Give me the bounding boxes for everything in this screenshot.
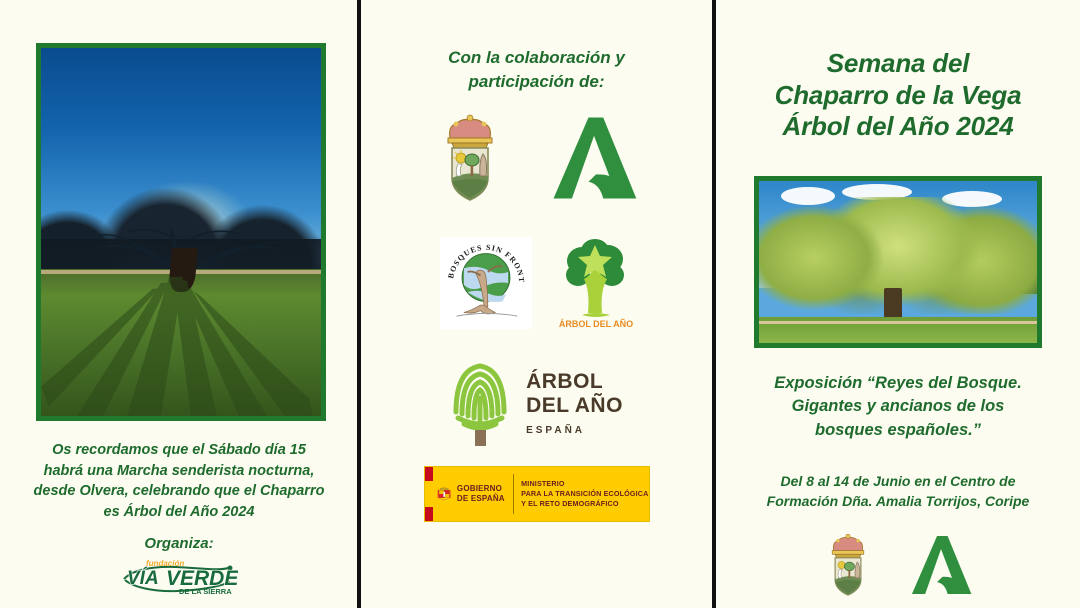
organiza-label: Organiza: <box>22 533 336 554</box>
poster-title-line-1: Semana del <box>730 48 1066 80</box>
left-note-line-4: es Árbol del Año 2024 <box>22 502 336 523</box>
exposition-line-3: bosques españoles.” <box>738 419 1058 442</box>
logo-row-gobierno: GOBIERNO DE ESPAÑA MINISTERIO PARA LA TR… <box>361 466 712 522</box>
dates-venue-text: Del 8 al 14 de Junio en el Centro de For… <box>732 472 1064 512</box>
chaparro-de-la-vega-photo <box>754 176 1042 348</box>
gobierno-text: GOBIERNO DE ESPAÑA <box>457 484 505 504</box>
poster-title: Semana del Chaparro de la Vega Árbol del… <box>730 48 1066 143</box>
arbol-del-ano-espana-logo: ÁRBOL DEL AÑO ESPAÑA <box>450 358 623 448</box>
gobierno-line-2: DE ESPAÑA <box>457 494 505 504</box>
chaparro-night-photo <box>36 43 326 421</box>
svg-text:DE LA SIERRA: DE LA SIERRA <box>179 587 232 596</box>
escudo-coripe-icon <box>822 532 874 598</box>
collaboration-heading: Con la colaboración y participación de: <box>383 46 690 94</box>
collaboration-heading-line-2: participación de: <box>383 70 690 94</box>
ministerio-line-2: PARA LA TRANSICIÓN ECOLÓGICA <box>521 489 648 499</box>
exposition-line-2: Gigantes y ancianos de los <box>738 395 1058 418</box>
left-note-line-2: habrá una Marcha senderista nocturna, <box>22 461 336 482</box>
gobierno-line-1: GOBIERNO <box>457 484 505 494</box>
poster-title-line-2: Chaparro de la Vega <box>730 80 1066 112</box>
arbol-del-ano-sketch-icon: ÁRBOL DEL AÑO <box>558 235 634 331</box>
logo-row-associations: BOSQUES SIN FRONTERAS ÁRBOL DEL AÑO <box>361 235 712 331</box>
svg-text:ÁRBOL DEL AÑO: ÁRBOL DEL AÑO <box>558 319 632 329</box>
exposition-line-1: Exposición “Reyes del Bosque. <box>738 372 1058 395</box>
logo-row-arbol-del-ano: ÁRBOL DEL AÑO ESPAÑA <box>361 358 712 448</box>
photo-shadows <box>41 269 321 416</box>
spain-flag-stripe <box>425 467 433 521</box>
arbol-del-ano-text: ÁRBOL DEL AÑO ESPAÑA <box>526 370 623 436</box>
escudo-coripe-icon <box>434 112 506 204</box>
exposition-text: Exposición “Reyes del Bosque. Gigantes y… <box>738 372 1058 442</box>
ada-line-2: DEL AÑO <box>526 394 623 418</box>
dates-line-1: Del 8 al 14 de Junio en el Centro de <box>732 472 1064 492</box>
via-verde-logo-wrap: fundación VÍA VERDE DE LA SIERRA <box>0 556 357 598</box>
photo-meadow <box>41 269 321 416</box>
junta-andalucia-icon <box>908 532 974 598</box>
ministerio-line-1: MINISTERIO <box>521 479 648 489</box>
fingerprint-tree-icon <box>450 358 512 448</box>
bosques-sin-fronteras-icon: BOSQUES SIN FRONTERAS <box>440 237 532 329</box>
poster-canvas: Os recordamos que el Sábado día 15 habrá… <box>0 0 1080 608</box>
ada-line-1: ÁRBOL <box>526 370 623 394</box>
left-panel: Os recordamos que el Sábado día 15 habrá… <box>0 0 357 608</box>
right-panel: Semana del Chaparro de la Vega Árbol del… <box>716 0 1080 608</box>
collaboration-heading-line-1: Con la colaboración y <box>383 46 690 70</box>
junta-andalucia-icon <box>548 112 640 204</box>
ministerio-line-3: Y EL RETO DEMOGRÁFICO <box>521 499 648 509</box>
ada-line-3: ESPAÑA <box>526 425 623 436</box>
middle-panel: Con la colaboración y participación de: <box>361 0 712 608</box>
dates-line-2: Formación Dña. Amalia Torrijos, Coripe <box>732 492 1064 512</box>
svg-text:VÍA: VÍA <box>127 567 159 589</box>
via-verde-logo: fundación VÍA VERDE DE LA SIERRA <box>120 556 238 598</box>
escudo-espana-icon <box>437 473 451 515</box>
right-panel-logo-row <box>716 532 1080 598</box>
gobierno-espana-banner: GOBIERNO DE ESPAÑA MINISTERIO PARA LA TR… <box>424 466 650 522</box>
right-photo-fence <box>759 321 1037 324</box>
ministerio-text: MINISTERIO PARA LA TRANSICIÓN ECOLÓGICA … <box>521 479 648 510</box>
poster-title-line-3: Árbol del Año 2024 <box>730 111 1066 143</box>
left-note-line-3: desde Olvera, celebrando que el Chaparro <box>22 481 336 502</box>
left-note-line-1: Os recordamos que el Sábado día 15 <box>22 440 336 461</box>
logo-row-institutional <box>361 112 712 204</box>
left-note: Os recordamos que el Sábado día 15 habrá… <box>22 440 336 522</box>
